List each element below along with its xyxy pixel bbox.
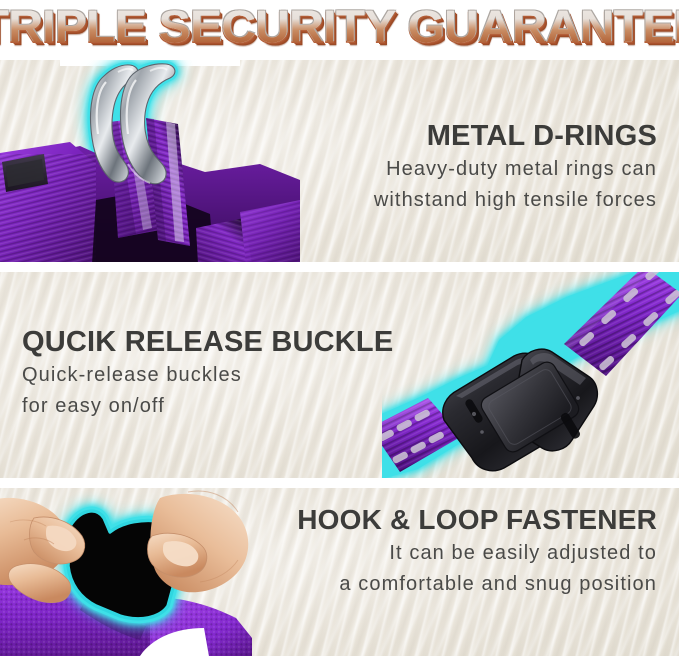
feature-heading: HOOK & LOOP FASTENER [297, 502, 657, 538]
hand-right [148, 491, 249, 592]
feature-body-line-1: It can be easily adjusted to [297, 538, 657, 569]
feature-panel-quick-release-buckle: QUCIK RELEASE BUCKLE Quick-release buckl… [0, 272, 679, 478]
product-photo-buckle [382, 272, 679, 478]
feature-text-metal-d-rings: METAL D-RINGS Heavy-duty metal rings can… [374, 118, 657, 216]
feature-panel-hook-and-loop-fastener: HOOK & LOOP FASTENER It can be easily ad… [0, 488, 679, 656]
feature-heading: QUCIK RELEASE BUCKLE [22, 324, 393, 360]
d-rings-illustration [0, 60, 300, 262]
feature-body-line-2: for easy on/off [22, 391, 393, 422]
banner-header: TRIPLE SECURITY GUARANTEE TRIPLE SECURIT… [0, 0, 679, 60]
product-photo-d-rings [0, 60, 300, 262]
feature-body-line-2: a comfortable and snug position [297, 569, 657, 600]
banner-title-shadow: TRIPLE SECURITY GUARANTEE [0, 1, 679, 53]
feature-body-line-1: Heavy-duty metal rings can [374, 154, 657, 185]
feature-panel-metal-d-rings: METAL D-RINGS Heavy-duty metal rings can… [0, 60, 679, 262]
feature-text-quick-release-buckle: QUCIK RELEASE BUCKLE Quick-release buckl… [22, 324, 393, 422]
hook-and-loop-illustration [0, 488, 282, 656]
feature-body-line-2: withstand high tensile forces [374, 185, 657, 216]
buckle-illustration [382, 272, 679, 478]
feature-heading: METAL D-RINGS [374, 118, 657, 154]
feature-text-hook-and-loop-fastener: HOOK & LOOP FASTENER It can be easily ad… [297, 502, 657, 600]
product-photo-hook-and-loop [0, 488, 282, 656]
feature-body-line-1: Quick-release buckles [22, 360, 393, 391]
